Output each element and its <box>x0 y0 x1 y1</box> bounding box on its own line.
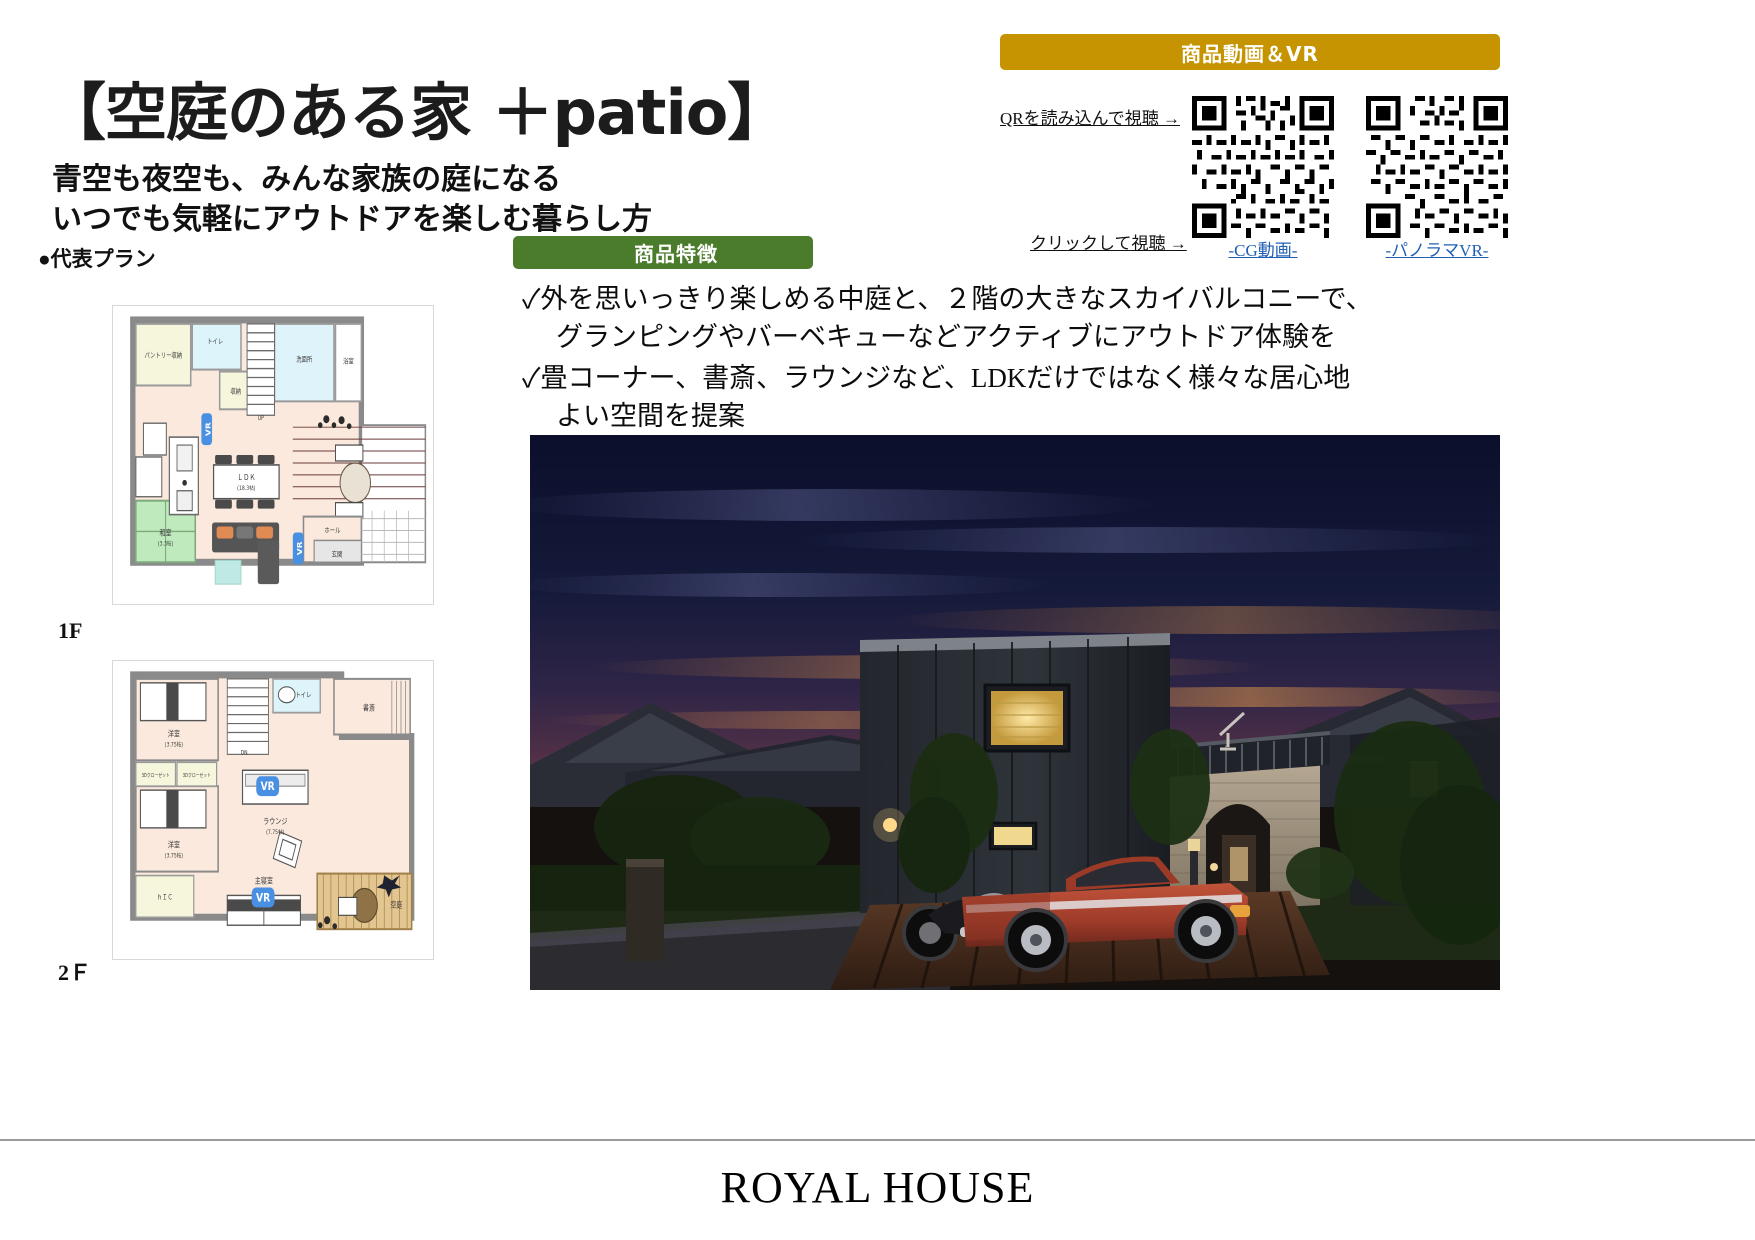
svg-text:VR: VR <box>296 541 304 555</box>
svg-text:トイレ: トイレ <box>295 691 311 699</box>
brand-logo: ROYAL HOUSE <box>0 1162 1755 1213</box>
media-banner: 商品動画＆VR <box>1000 34 1500 70</box>
feature-line: よい空間を提案 <box>522 397 1522 435</box>
features-list: ✓外を思いっきり楽しめる中庭と、２階の大きなスカイバルコニーで、 グランピングや… <box>522 280 1522 437</box>
poster-page: 【空庭のある家 ＋patio】 青空も夜空も、みんな家族の庭になる いつでも気軽… <box>0 0 1755 1240</box>
qr-click-hint: クリックして視聴 → <box>1030 229 1187 254</box>
floor-tag-2f: 2Ｆ <box>58 955 91 987</box>
svg-text:空庭: 空庭 <box>390 899 402 909</box>
page-subtitle: 青空も夜空も、みんな家族の庭になる いつでも気軽にアウトドアを楽しむ暮らし方 <box>52 160 652 240</box>
svg-text:(18.3帖): (18.3帖) <box>237 483 255 492</box>
svg-text:ホール: ホール <box>324 527 340 535</box>
first-floor-plan: パントリー収納 トイレ 収納 洗面所 浴室 ＬＤＫ (18.3帖) 和室 (3.… <box>112 305 434 605</box>
feature-line: ✓外を思いっきり楽しめる中庭と、２階の大きなスカイバルコニーで、 <box>522 280 1522 318</box>
svg-text:DN: DN <box>241 750 248 757</box>
features-banner-label: 商品特徴 <box>608 238 718 267</box>
svg-text:(3.75帖): (3.75帖) <box>165 851 183 860</box>
svg-text:洗面所: 洗面所 <box>296 355 312 364</box>
svg-text:UP: UP <box>258 416 265 423</box>
svg-text:ｈＩＣ: ｈＩＣ <box>157 893 173 902</box>
svg-text:玄関: 玄関 <box>332 550 343 559</box>
svg-text:VR: VR <box>256 890 270 905</box>
page-title: 【空庭のある家 ＋patio】 <box>44 62 788 152</box>
qr-panorama-vr-caption[interactable]: -パノラマVR- <box>1358 236 1516 261</box>
features-banner: 商品特徴 <box>513 236 813 269</box>
feature-item: ✓外を思いっきり楽しめる中庭と、２階の大きなスカイバルコニーで、 グランピングや… <box>522 280 1522 357</box>
qr-code-icon <box>1366 96 1508 238</box>
footer-divider <box>0 1139 1755 1141</box>
floor-plan-1f-drawing: パントリー収納 トイレ 収納 洗面所 浴室 ＬＤＫ (18.3帖) 和室 (3.… <box>113 306 433 604</box>
svg-text:収納: 収納 <box>230 387 241 396</box>
feature-line: ✓畳コーナー、書斎、ラウンジなど、LDKだけではなく様々な居心地 <box>522 359 1522 397</box>
svg-text:和室: 和室 <box>159 528 171 538</box>
qr-cg-movie[interactable] <box>1192 96 1334 238</box>
svg-text:VR: VR <box>261 779 275 794</box>
second-floor-plan: 洋室 (3.75帖) 洋室 (3.75帖) 3Dクローゼット 3Dクローゼット … <box>112 660 434 960</box>
representative-plan-label: ●代表プラン <box>38 243 156 273</box>
exterior-render-drawing <box>530 435 1500 990</box>
svg-text:ＬＤＫ: ＬＤＫ <box>237 472 255 482</box>
qr-cg-movie-caption[interactable]: -CG動画- <box>1192 236 1334 261</box>
qr-panorama-vr[interactable] <box>1366 96 1508 238</box>
svg-text:VR: VR <box>204 422 212 436</box>
media-banner-label: 商品動画＆VR <box>1181 38 1319 67</box>
feature-item: ✓畳コーナー、書斎、ラウンジなど、LDKだけではなく様々な居心地 よい空間を提案 <box>522 359 1522 436</box>
qr-scan-hint: QRを読み込んで視聴 → <box>1000 104 1180 129</box>
svg-text:ラウンジ: ラウンジ <box>263 816 287 826</box>
feature-line: グランピングやバーベキューなどアクティブにアウトドア体験を <box>522 318 1522 356</box>
svg-text:パントリー収納: パントリー収納 <box>145 351 183 360</box>
svg-text:(7.75帖): (7.75帖) <box>266 827 284 836</box>
qr-code-icon <box>1192 96 1334 238</box>
floor-tag-1f: 1F <box>58 618 82 644</box>
exterior-render-image <box>530 435 1500 990</box>
svg-text:洋室: 洋室 <box>168 840 180 850</box>
svg-text:(3.75帖): (3.75帖) <box>165 740 183 749</box>
svg-text:(3.3帖): (3.3帖) <box>158 539 173 548</box>
svg-text:主寝室: 主寝室 <box>255 876 273 886</box>
svg-text:浴室: 浴室 <box>343 357 354 366</box>
floor-plan-2f-drawing: 洋室 (3.75帖) 洋室 (3.75帖) 3Dクローゼット 3Dクローゼット … <box>113 661 433 959</box>
svg-text:トイレ: トイレ <box>207 338 223 346</box>
svg-text:洋室: 洋室 <box>168 729 180 739</box>
svg-text:書斎: 書斎 <box>363 703 375 713</box>
